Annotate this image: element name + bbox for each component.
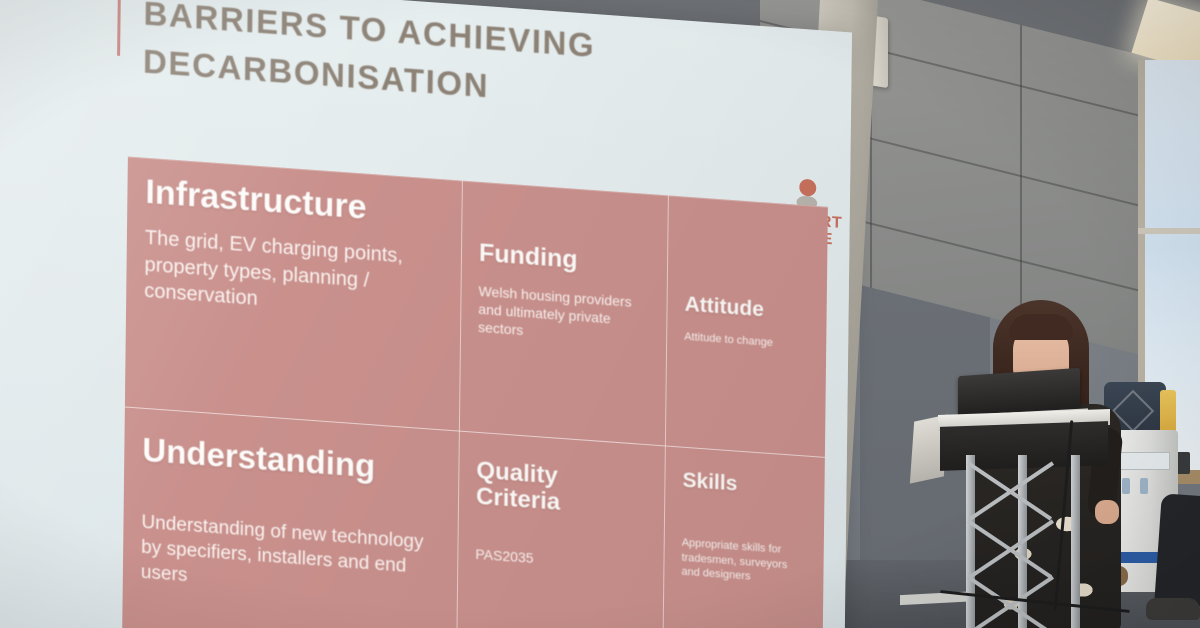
cell-body: Welsh housing providers and ultimately p… <box>478 281 649 349</box>
cell-title: Skills <box>682 469 806 501</box>
cell-body: Understanding of new technology by speci… <box>141 510 440 607</box>
cell-title: Infrastructure <box>145 174 443 233</box>
barriers-table: Infrastructure The grid, EV charging poi… <box>122 157 828 628</box>
cell-funding: Funding Welsh housing providers and ulti… <box>459 181 668 446</box>
cell-title: Attitude <box>684 293 808 325</box>
cell-title: Funding <box>479 240 649 280</box>
cell-quality-criteria: Quality Criteria PAS2035 <box>456 431 665 628</box>
presenter-hand <box>1095 500 1119 524</box>
title-accent-bar <box>117 0 121 56</box>
cell-title: Understanding <box>142 432 440 490</box>
cell-body: Appropriate skills for tradesmen, survey… <box>681 536 806 588</box>
cell-infrastructure: Infrastructure The grid, EV charging poi… <box>125 157 462 431</box>
presenter-fringe <box>1009 314 1073 340</box>
table-row: Infrastructure The grid, EV charging poi… <box>125 157 828 457</box>
cell-skills: Skills Appropriate skills for tradesmen,… <box>662 445 825 628</box>
cell-attitude: Attitude Attitude to change <box>665 195 828 457</box>
window-mullion <box>1138 228 1200 234</box>
bag <box>1154 493 1200 606</box>
screen-surface: BARRIERS TO ACHIEVING DECARBONISATION RO… <box>0 0 852 628</box>
projection-screen: BARRIERS TO ACHIEVING DECARBONISATION RO… <box>0 0 864 628</box>
screenshot-root: BARRIERS TO ACHIEVING DECARBONISATION RO… <box>0 0 1200 628</box>
shoe-left <box>1146 598 1200 620</box>
cooler-tap-hot[interactable] <box>1140 478 1148 494</box>
cell-body: Attitude to change <box>684 330 808 353</box>
cell-understanding: Understanding Understanding of new techn… <box>122 407 459 628</box>
cell-body: PAS2035 <box>475 545 645 576</box>
cell-title: Quality Criteria <box>476 458 647 523</box>
cell-body: The grid, EV charging points, property t… <box>144 225 443 326</box>
window-sill-object <box>1176 452 1190 474</box>
